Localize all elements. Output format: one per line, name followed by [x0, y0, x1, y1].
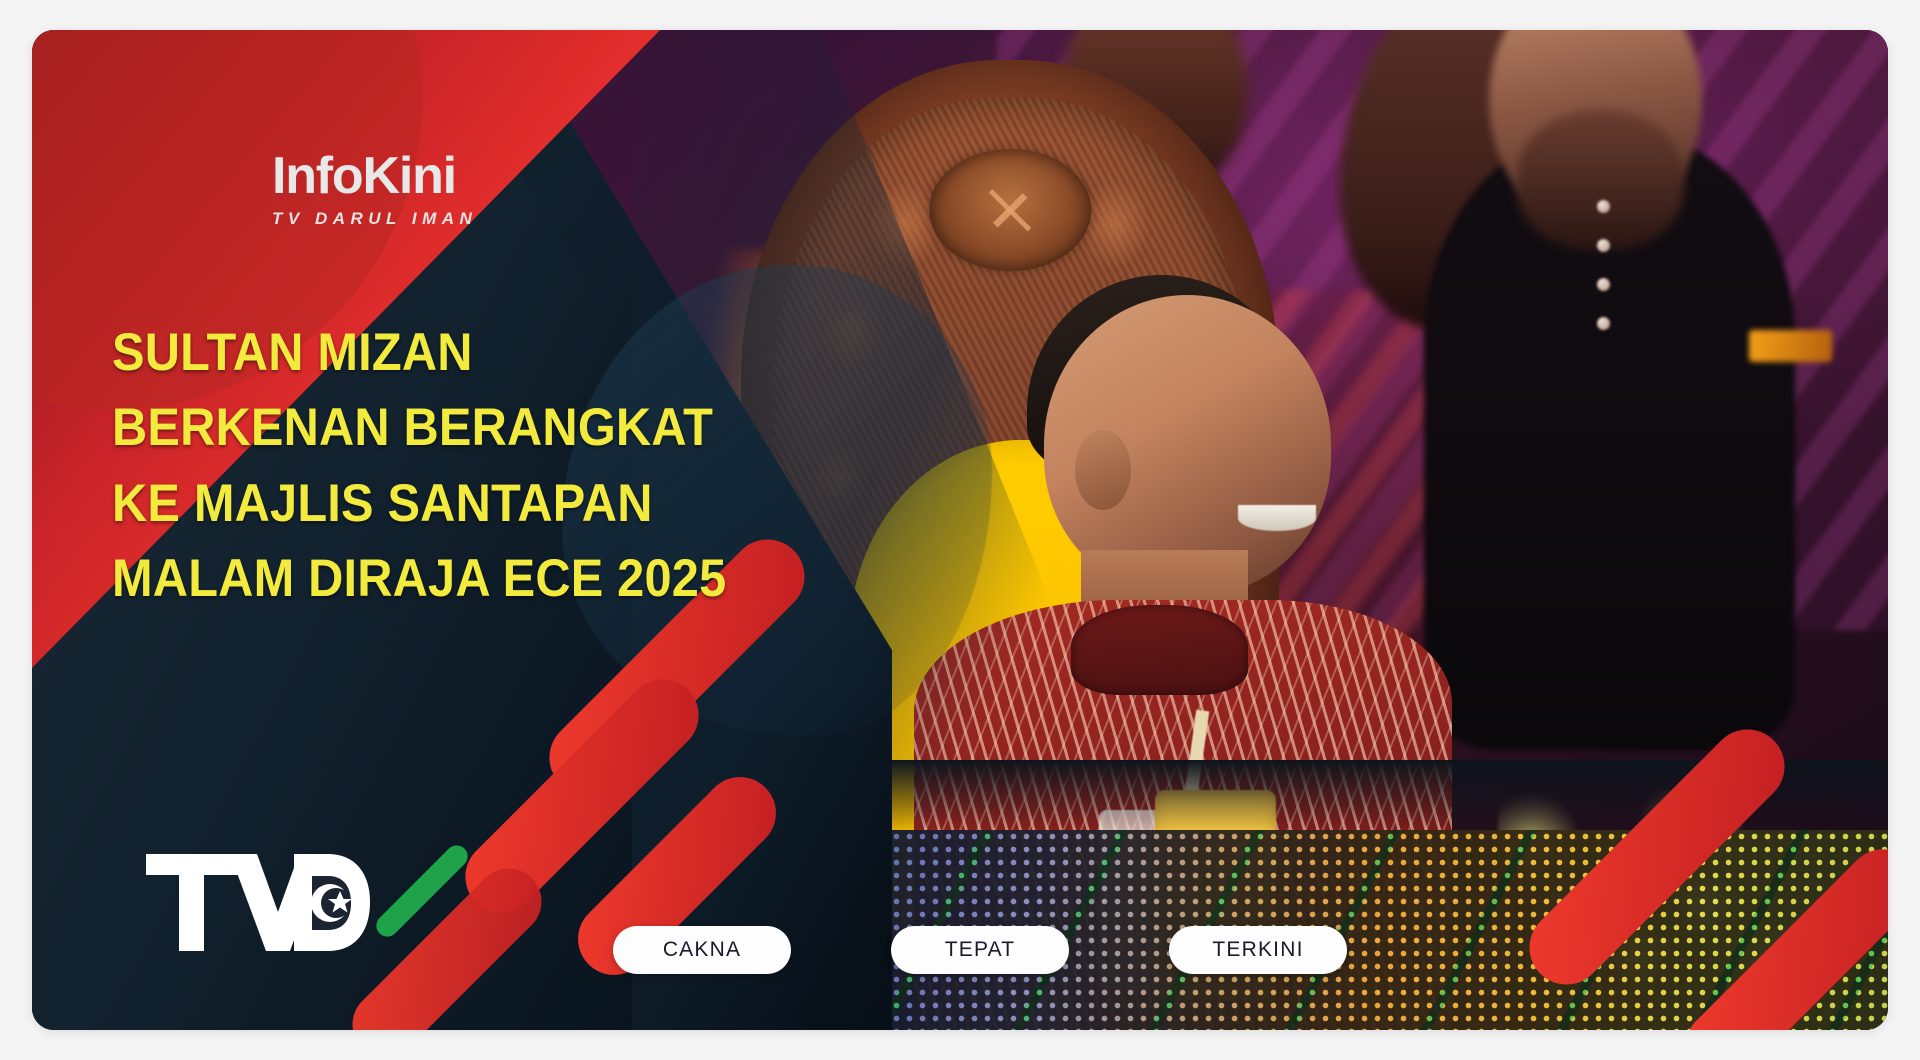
- pill-tepat[interactable]: TEPAT: [891, 926, 1069, 974]
- name-badge: [1749, 330, 1833, 362]
- subject-collar: [1071, 605, 1247, 695]
- news-card: InfoKini TV DARUL IMAN SULTAN MIZAN BERK…: [32, 30, 1888, 1030]
- pill-cakna[interactable]: CAKNA: [613, 926, 791, 974]
- baju-melayu-buttons: [1597, 200, 1625, 420]
- page-root: InfoKini TV DARUL IMAN SULTAN MIZAN BERK…: [0, 0, 1920, 1060]
- pill-terkini[interactable]: TERKINI: [1169, 926, 1347, 974]
- headline-line-3: KE MAJLIS SANTAPAN: [112, 466, 738, 541]
- logo-tagline: TV DARUL IMAN: [272, 209, 477, 229]
- subject-smile: [1238, 505, 1316, 531]
- pill-cakna-label: CAKNA: [663, 938, 741, 962]
- infokini-logo: InfoKini TV DARUL IMAN: [272, 150, 477, 229]
- subject-ear: [1075, 430, 1131, 510]
- headline-line-4: MALAM DIRAJA ECE 2025: [112, 541, 738, 616]
- throne-crest: [929, 149, 1090, 271]
- pill-terkini-label: TERKINI: [1212, 938, 1303, 962]
- headline-line-2: BERKENAN BERANGKAT: [112, 390, 738, 465]
- headline: SULTAN MIZAN BERKENAN BERANGKAT KE MAJLI…: [112, 315, 792, 616]
- pill-tepat-label: TEPAT: [945, 938, 1016, 962]
- headline-line-1: SULTAN MIZAN: [112, 315, 738, 390]
- tagline-pills: CAKNA TEPAT TERKINI: [32, 926, 1888, 974]
- logo-wordmark: InfoKini: [272, 150, 477, 202]
